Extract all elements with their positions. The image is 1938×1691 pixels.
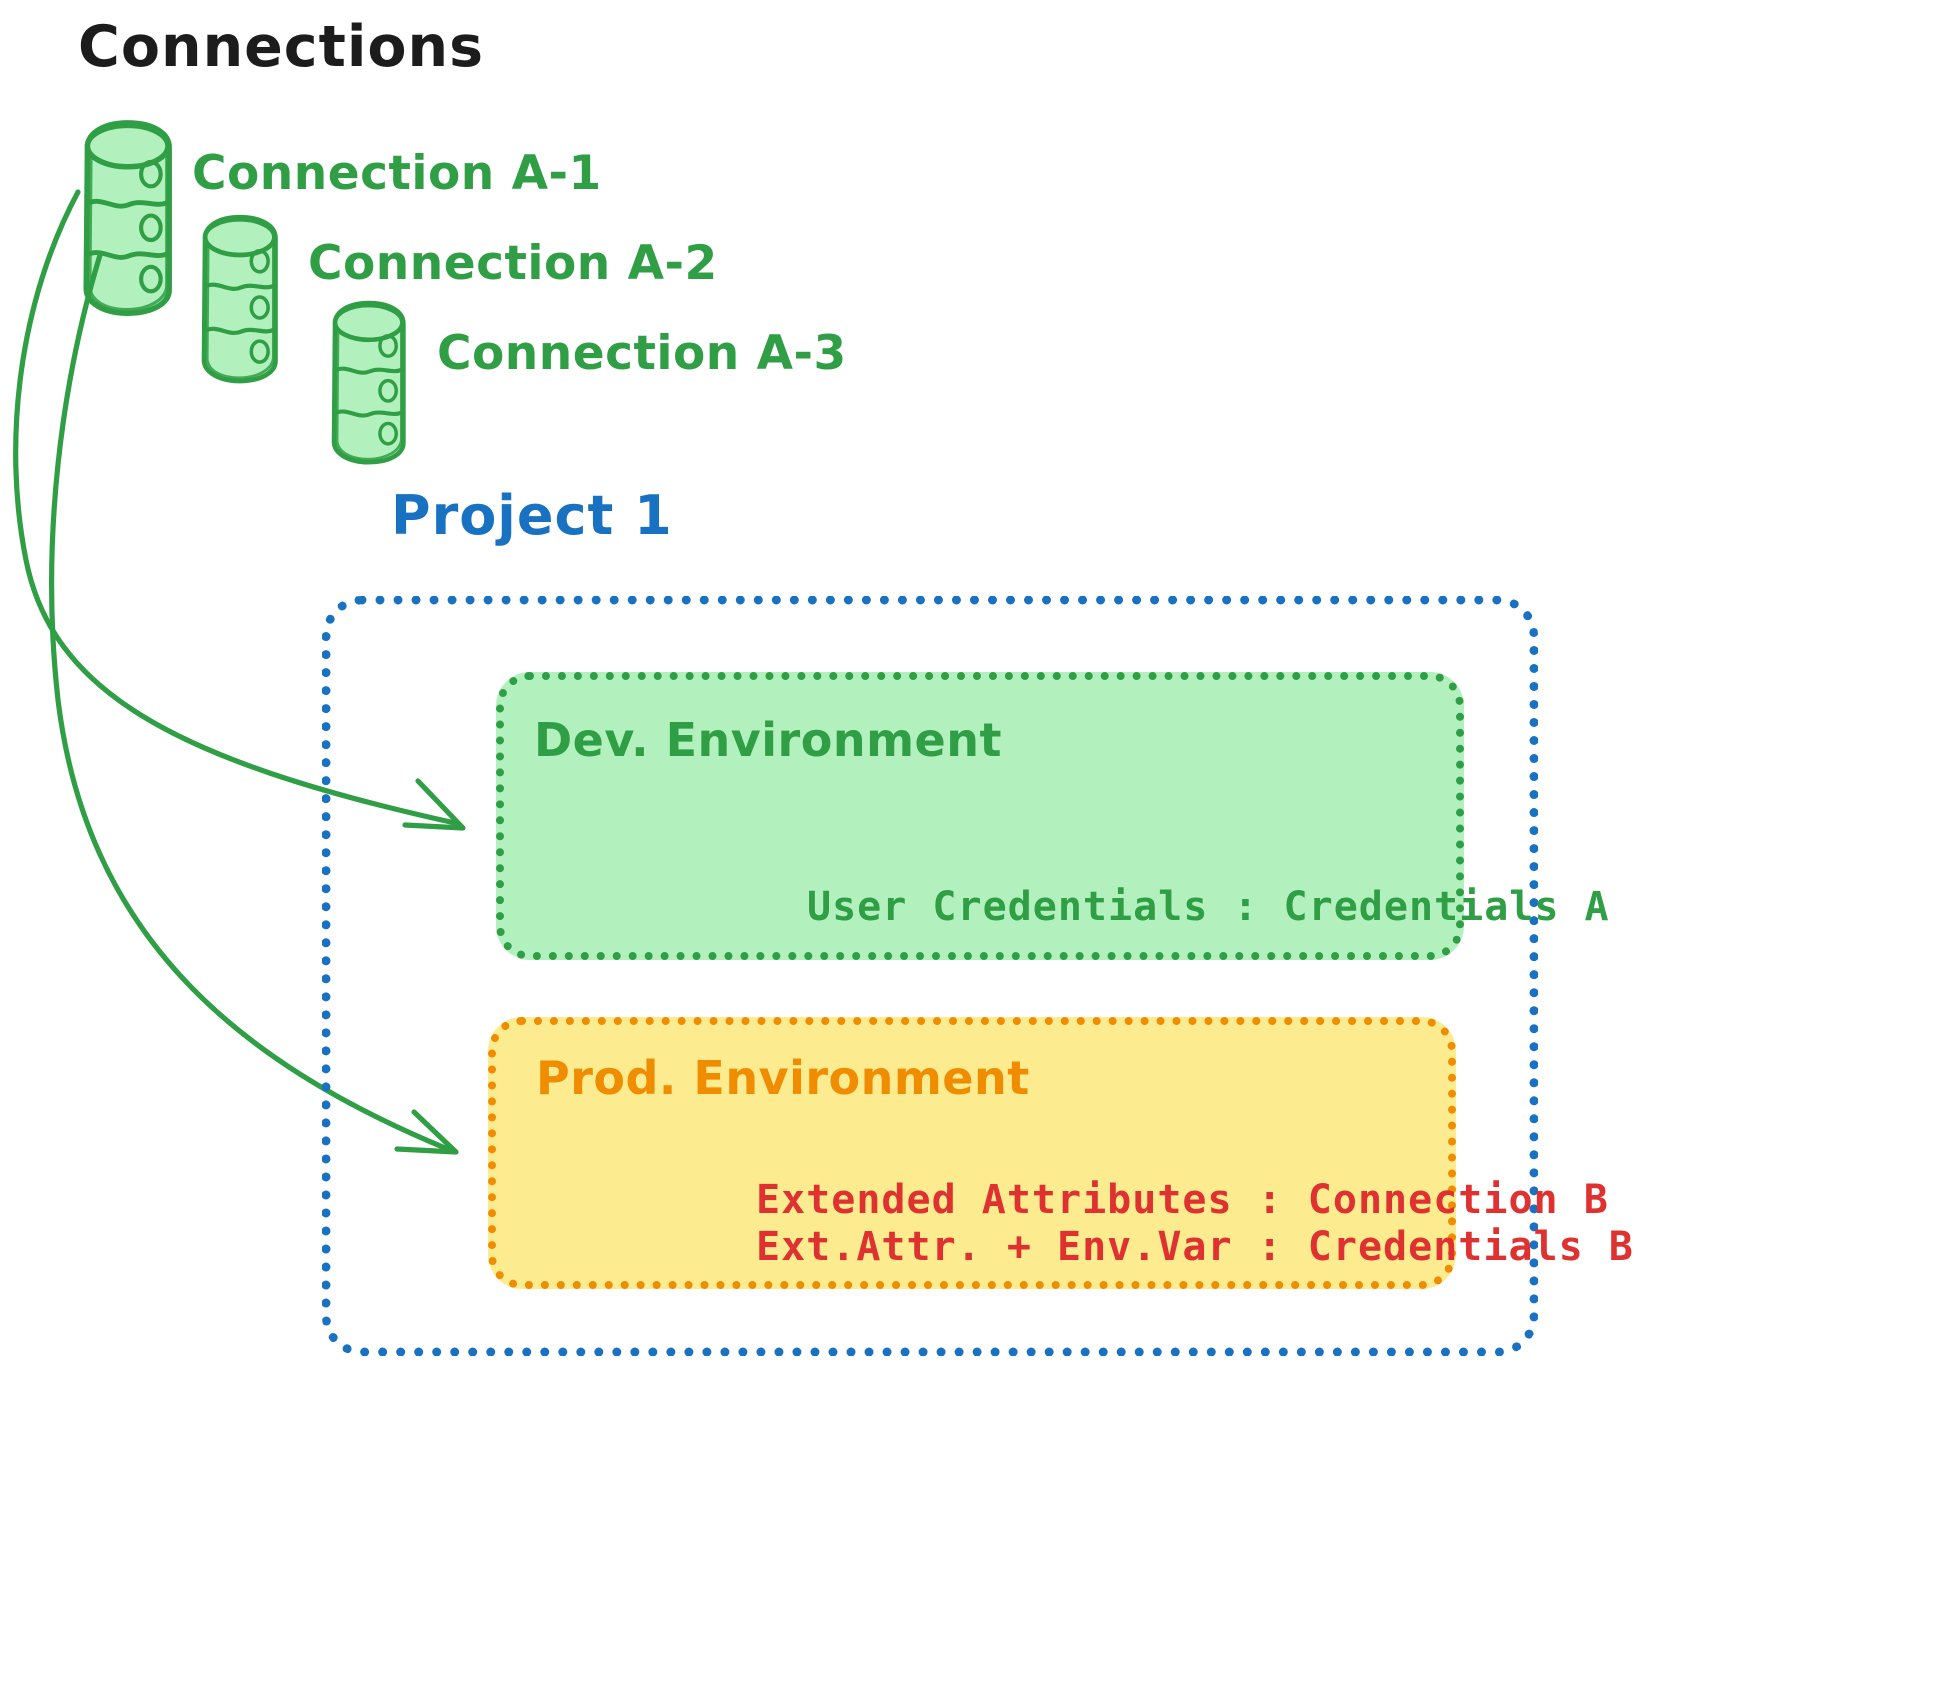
dev-environment-title: Dev. Environment <box>534 713 1002 767</box>
database-icon-connection-a-3[interactable] <box>333 303 403 462</box>
connection-label-a-2: Connection A-2 <box>308 236 718 291</box>
connection-label-a-3: Connection A-3 <box>437 326 847 381</box>
prod-environment-title: Prod. Environment <box>536 1051 1030 1105</box>
database-icon-connection-a-2[interactable] <box>203 217 275 381</box>
prod-environment-credentials-line: Ext.Attr. + Env.Var : Credentials B <box>756 1224 1634 1270</box>
prod-environment-attributes-line: Extended Attributes : Connection B <box>756 1177 1609 1223</box>
project-title: Project 1 <box>391 484 673 547</box>
database-icon-connection-a-1[interactable] <box>85 123 169 313</box>
page-title-connections: Connections <box>78 14 484 80</box>
connection-label-a-1: Connection A-1 <box>192 146 602 201</box>
diagram-canvas: Connections Connection A-1 Connection A-… <box>0 0 1938 1691</box>
dev-environment-credentials-line: User Credentials : Credentials A <box>807 884 1610 930</box>
